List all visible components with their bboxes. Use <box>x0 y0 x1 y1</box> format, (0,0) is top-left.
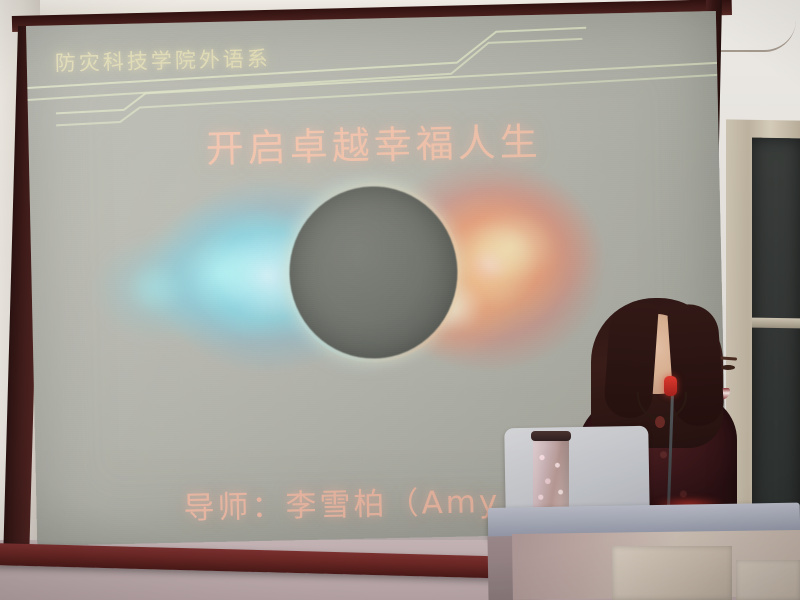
window-glass <box>752 138 800 534</box>
ice-wisp-b <box>89 232 221 345</box>
eye-right <box>721 365 735 370</box>
laptop <box>504 426 650 516</box>
screenshot-root: 防灾科技学院外语系 开启卓越幸福人生 导师：李雪柏（Amy LI） <box>0 0 800 600</box>
tumbler-lid <box>531 431 571 441</box>
tumbler-pattern <box>535 446 567 510</box>
slide-header-department: 防灾科技学院外语系 <box>54 43 271 78</box>
window-mullion <box>752 318 800 329</box>
podium-panel-left <box>612 546 732 600</box>
microphone-head <box>664 376 677 396</box>
podium-panel-right <box>736 560 800 600</box>
necklace-pendant <box>655 416 665 428</box>
